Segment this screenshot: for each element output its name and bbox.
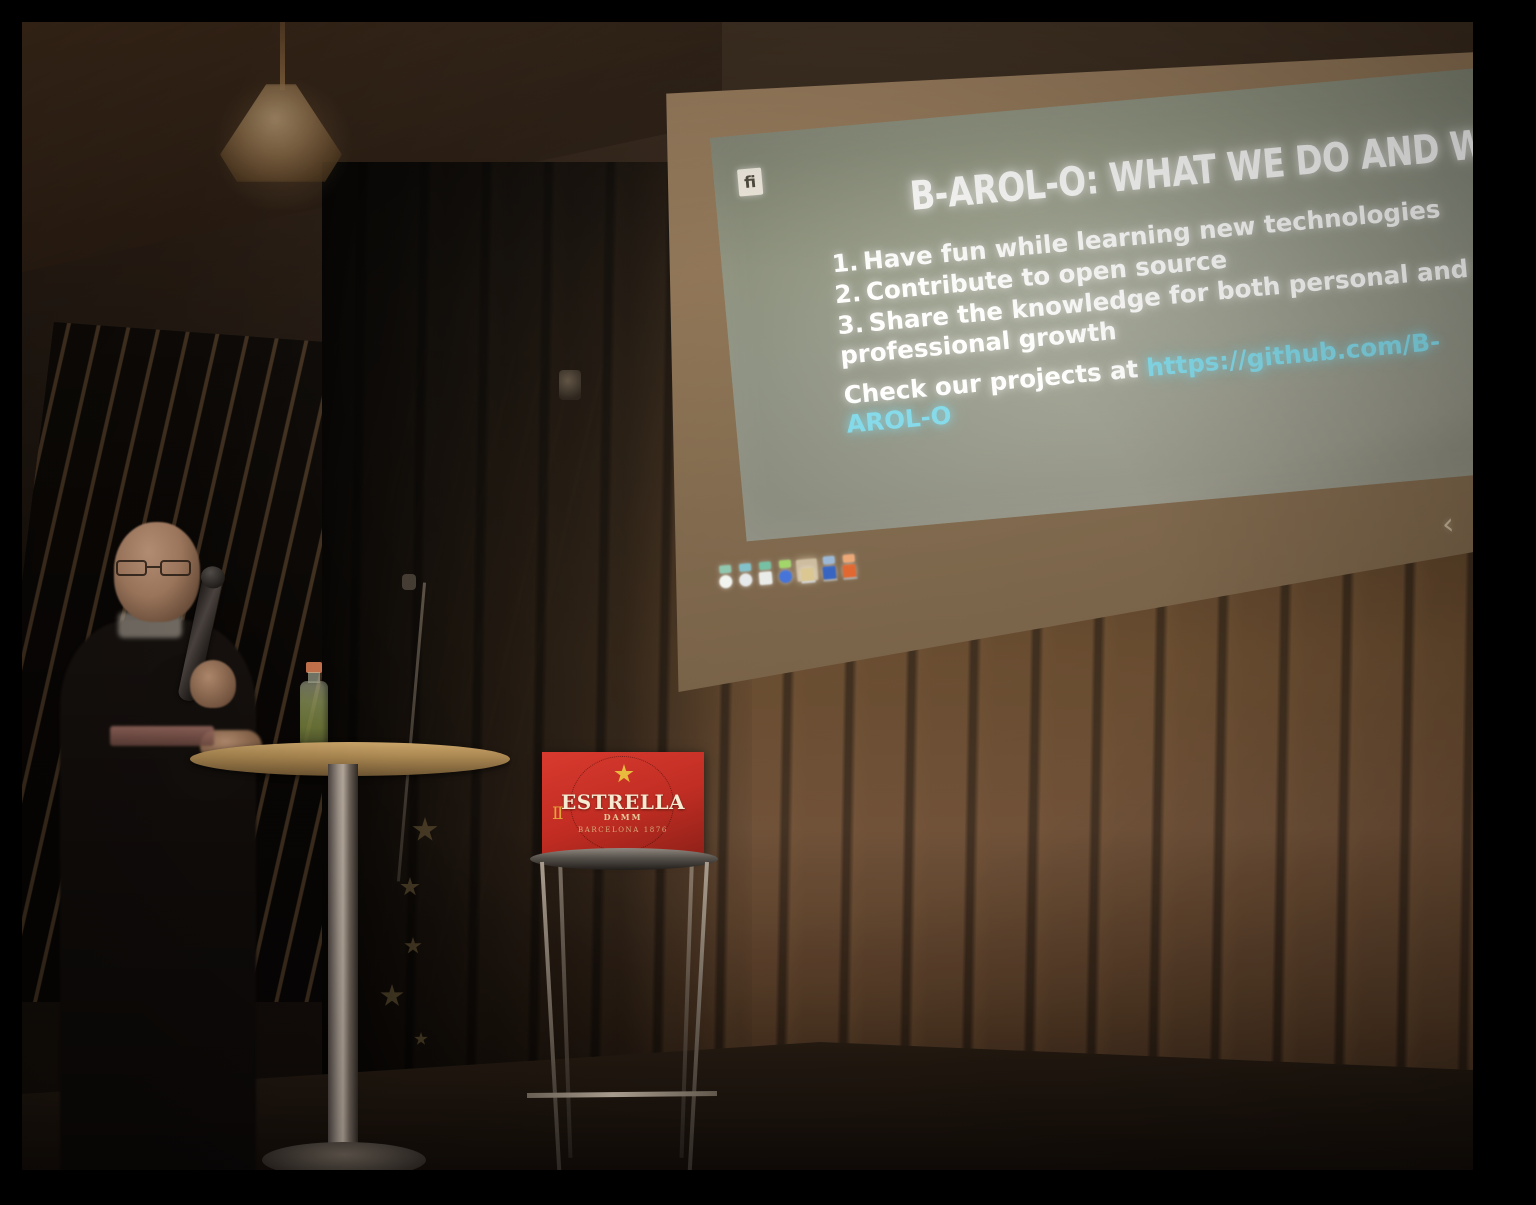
speaker-person xyxy=(52,512,292,1170)
stool-seat xyxy=(530,848,718,870)
left-lens xyxy=(116,560,147,576)
start-button-icon xyxy=(718,565,731,574)
estrella-brand-name: ESTRELLA xyxy=(542,790,704,814)
wall-speaker-box xyxy=(559,370,581,400)
estrella-marks: Ⅱ xyxy=(552,804,562,824)
active-window-underline xyxy=(801,580,815,583)
notebook-on-table xyxy=(110,726,214,746)
start-button-glyph xyxy=(719,575,733,589)
window-underline xyxy=(823,579,837,582)
table-base xyxy=(262,1142,426,1170)
projected-slide[interactable]: fi B-AROL-O: WHAT WE DO AND WHY 1.Have f… xyxy=(710,66,1473,541)
speaker-hand-holding-mic xyxy=(190,660,236,708)
search-glyph xyxy=(739,573,753,587)
bullet-number: 1. xyxy=(831,247,860,278)
glasses-bridge xyxy=(147,566,160,568)
bullet-number: 2. xyxy=(833,278,862,309)
edge-browser-glyph xyxy=(779,569,793,583)
slide-content: B-AROL-O: WHAT WE DO AND WHY 1.Have fun … xyxy=(814,121,1473,439)
task-view-glyph xyxy=(759,571,773,585)
search-icon xyxy=(738,563,751,572)
conference-photo: fi B-AROL-O: WHAT WE DO AND WHY 1.Have f… xyxy=(22,22,1473,1170)
taskbar-item-powerpoint-slideshow-window[interactable] xyxy=(796,558,819,582)
media-player-glyph xyxy=(842,564,856,578)
slide-logo-glyph: fi xyxy=(744,174,757,191)
estrella-damm-sign: ESTRELLA DAMM BARCELONA 1876 Ⅱ xyxy=(542,752,704,856)
edge-browser-icon xyxy=(778,560,791,569)
media-player-icon xyxy=(842,554,855,563)
file-explorer-icon xyxy=(822,556,835,565)
taskbar-item-task-view-icon[interactable] xyxy=(756,562,775,585)
photo-frame: fi B-AROL-O: WHAT WE DO AND WHY 1.Have f… xyxy=(0,0,1536,1205)
slideshow-previous-arrow-icon[interactable]: ‹ xyxy=(1440,507,1455,543)
taskbar-item-search-icon[interactable] xyxy=(736,564,755,587)
eyeglasses-icon xyxy=(114,560,198,576)
bottle-body xyxy=(300,681,328,746)
bullet-number: 3. xyxy=(836,309,865,340)
water-bottle-icon xyxy=(298,662,330,746)
taskbar-item-start-button[interactable] xyxy=(716,566,735,589)
slide-logo-badge: fi xyxy=(737,168,763,197)
right-lens xyxy=(160,560,191,576)
powerpoint-glyph xyxy=(800,568,814,582)
task-view-icon xyxy=(758,561,771,570)
window-underline xyxy=(843,577,857,580)
estrella-sub-name: DAMM xyxy=(542,812,704,822)
windows-taskbar[interactable] xyxy=(716,555,858,589)
taskbar-item-media-player-icon[interactable] xyxy=(840,555,859,578)
estrella-city-line: BARCELONA 1876 xyxy=(542,826,704,834)
taskbar-item-edge-browser-icon[interactable] xyxy=(776,560,795,583)
mic-stand-head xyxy=(402,574,416,590)
taskbar-item-file-explorer-icon[interactable] xyxy=(820,556,839,579)
table-post xyxy=(328,764,358,1164)
file-explorer-glyph xyxy=(822,566,836,580)
